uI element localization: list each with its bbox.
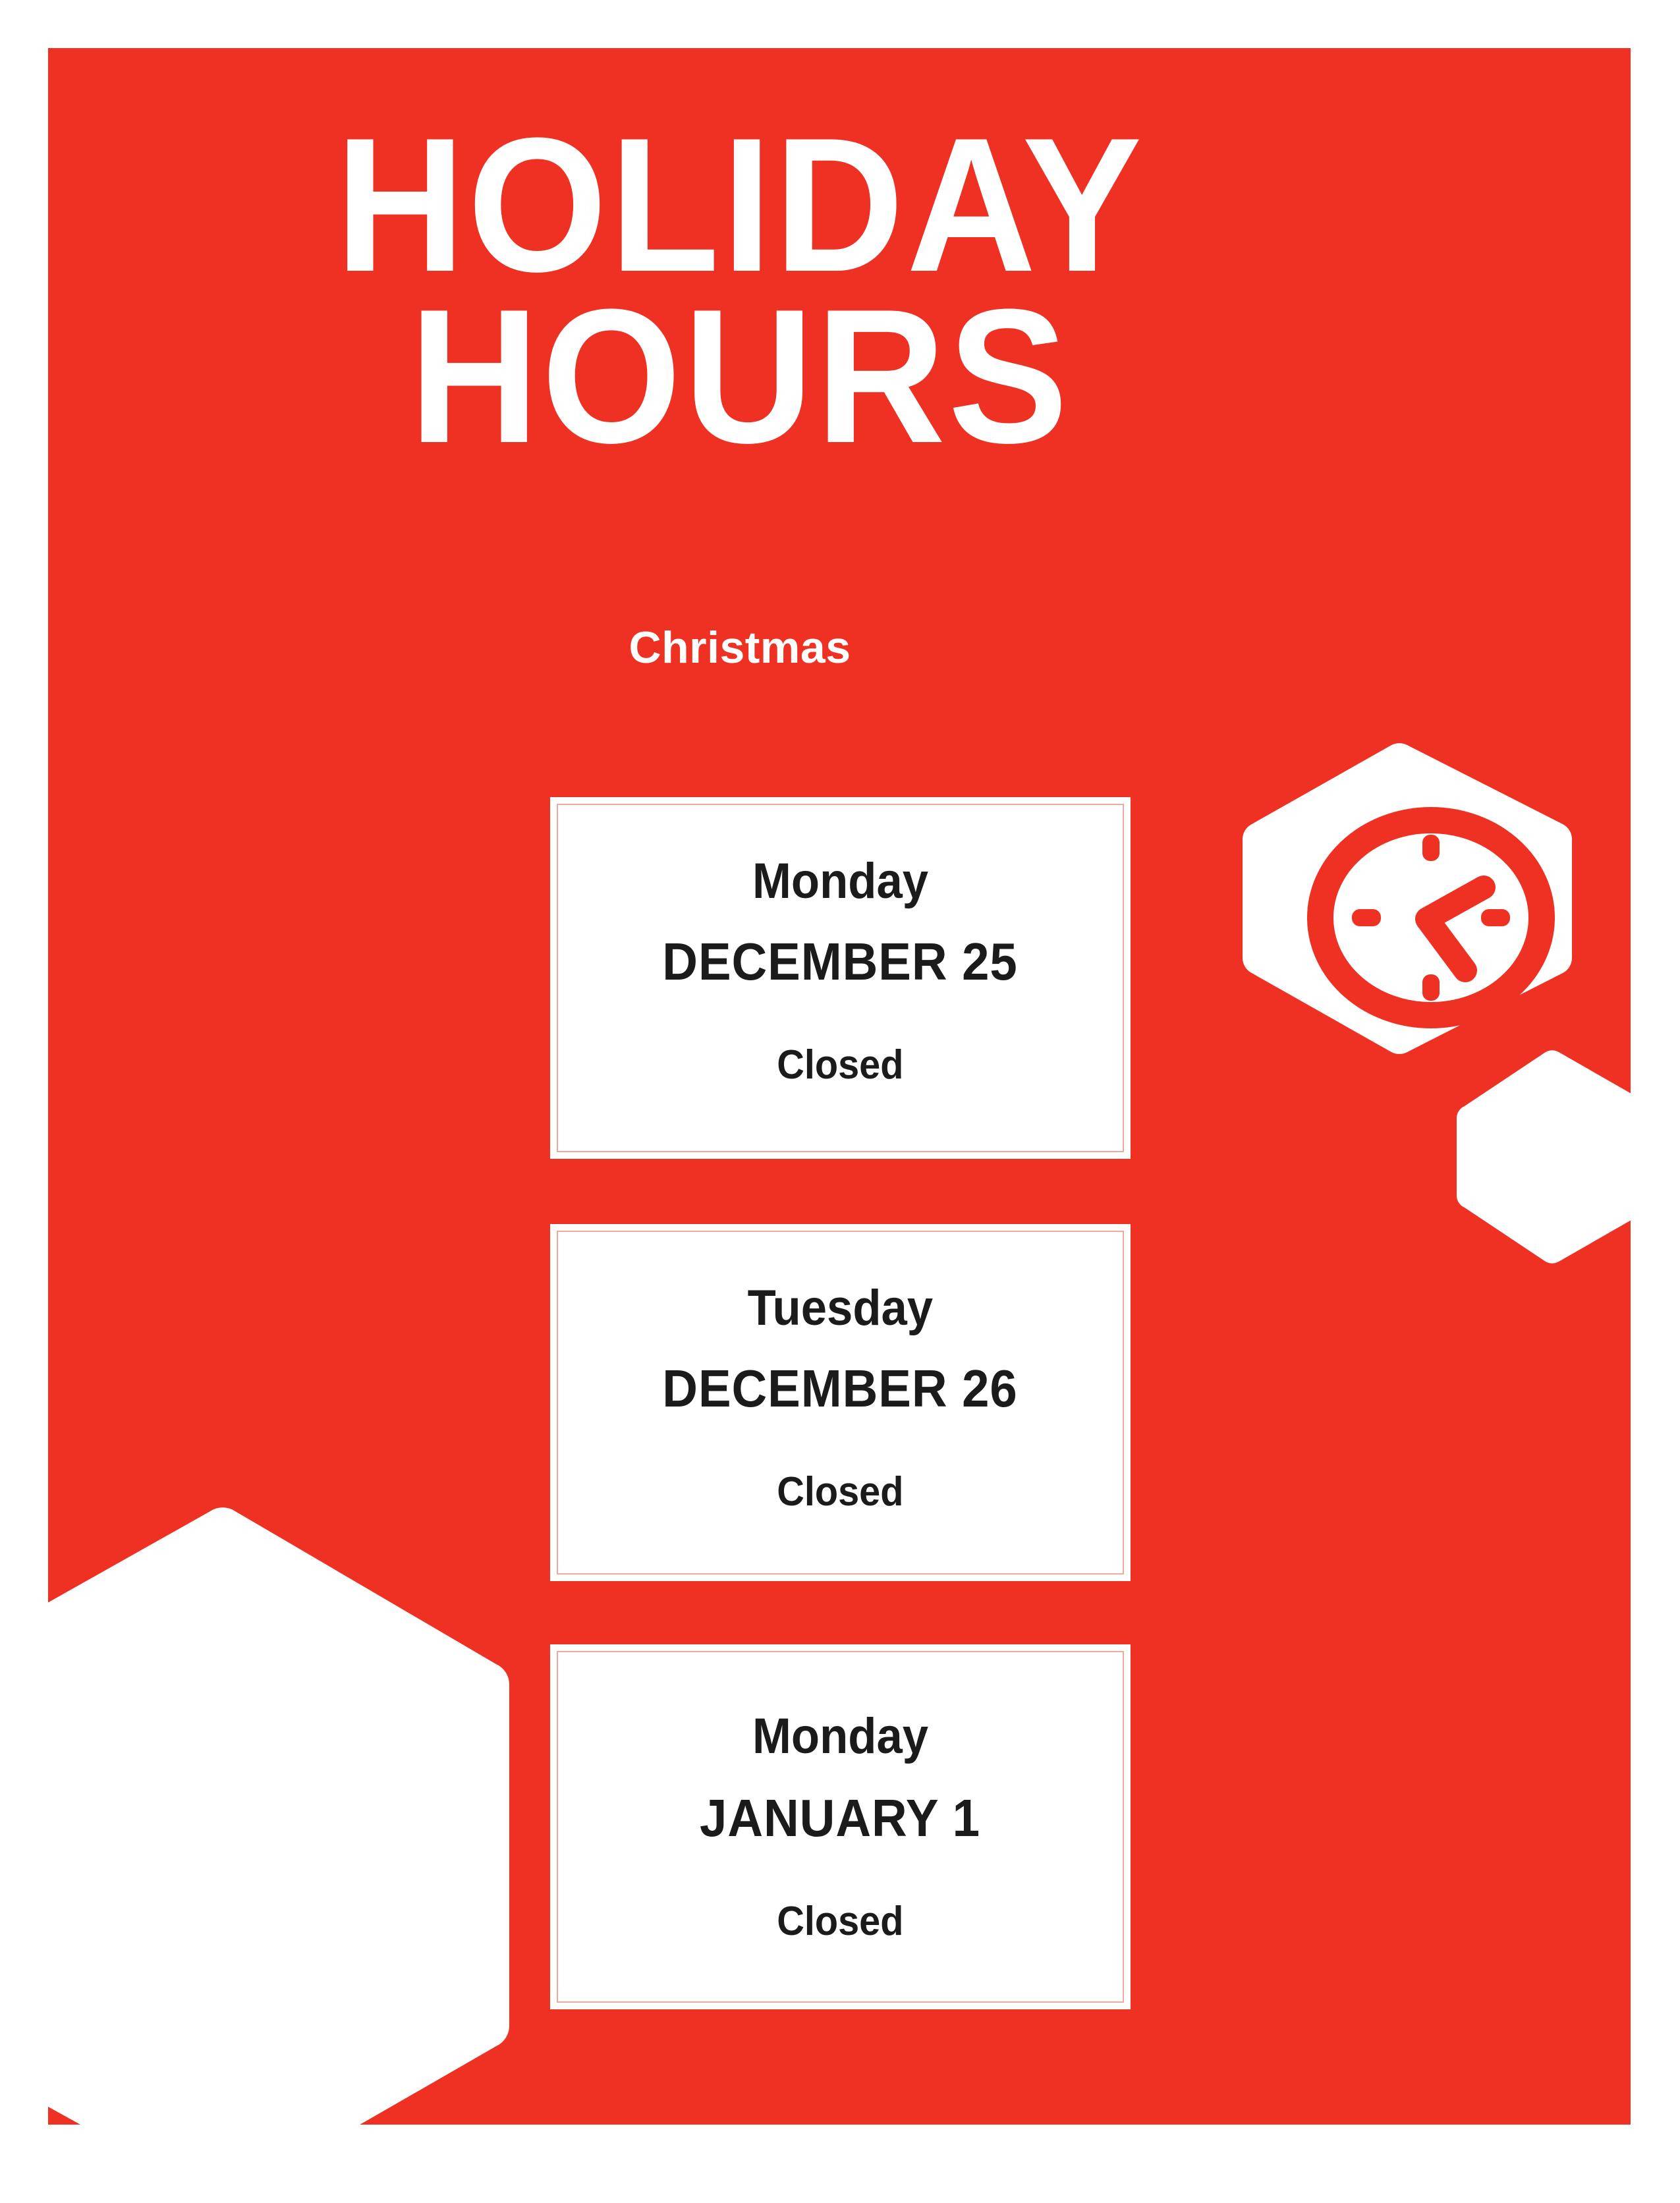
schedule-status: Closed [777,1472,903,1513]
schedule-date: DECEMBER 26 [663,1362,1018,1415]
hexagon-large-icon [0,1505,525,2203]
page-subtitle: Christmas [48,625,1432,670]
schedule-day: Monday [752,1712,928,1762]
schedule-card-inner: Tuesday DECEMBER 26 Closed [557,1231,1124,1575]
hexagon-small-icon [1450,1048,1631,1266]
schedule-status: Closed [777,1045,903,1086]
clock-badge [1239,741,1576,1056]
schedule-date: DECEMBER 25 [663,935,1018,988]
schedule-card: Monday DECEMBER 25 Closed [550,797,1131,1159]
schedule-status: Closed [777,1901,903,1942]
schedule-day: Monday [752,856,928,906]
title-line-hours: HOURS [90,298,1390,455]
schedule-card: Monday JANUARY 1 Closed [550,1644,1131,2009]
schedule-card: Tuesday DECEMBER 26 Closed [550,1224,1131,1581]
clock-icon [1239,741,1576,1056]
schedule-date: JANUARY 1 [700,1792,981,1845]
schedule-card-inner: Monday JANUARY 1 Closed [557,1651,1124,2003]
hexagon-accent-bottom-left [0,1505,525,2203]
schedule-day: Tuesday [748,1283,934,1333]
page-title: HOLIDAY HOURS [48,127,1432,455]
poster-panel: HOLIDAY HOURS Christmas [48,48,1631,2125]
schedule-card-inner: Monday DECEMBER 25 Closed [557,804,1124,1152]
hexagon-accent-right [1450,1048,1631,1266]
title-line-holiday: HOLIDAY [90,127,1390,284]
